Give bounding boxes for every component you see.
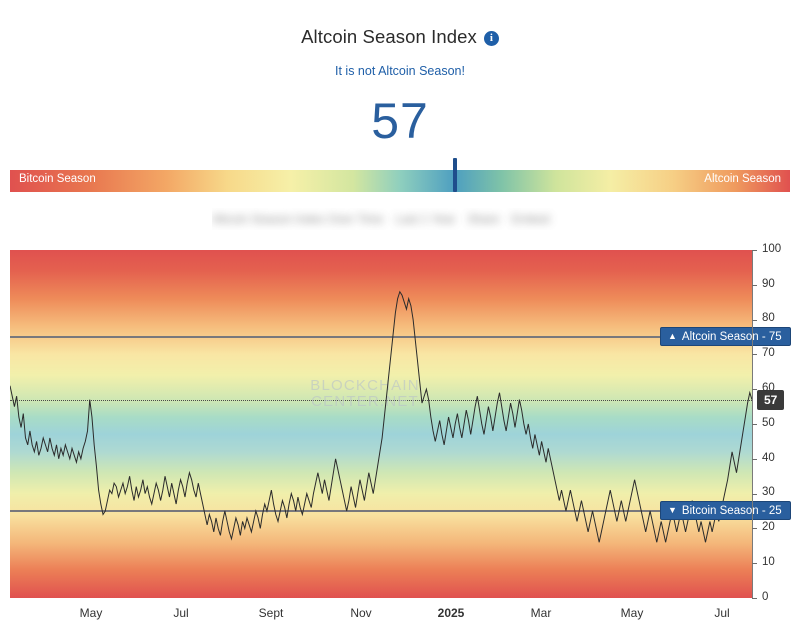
- y-tick-label: 100: [762, 244, 781, 256]
- y-axis: 0102030405060708090100: [752, 250, 800, 598]
- page-title: Altcoin Season Index: [301, 26, 477, 48]
- y-tick: 80: [752, 320, 800, 321]
- x-tick-label: Mar: [531, 606, 552, 620]
- page-title-row: Altcoin Season Index i: [0, 26, 800, 48]
- y-tick-mark: [752, 389, 757, 390]
- redacted-text-1: Altcoin Season Index Over Time: [212, 212, 383, 226]
- x-tick-label: Jul: [714, 606, 729, 620]
- scale-label-altcoin: Altcoin Season: [704, 173, 781, 185]
- y-tick-mark: [752, 563, 757, 564]
- scale-marker: [453, 158, 457, 192]
- y-tick-mark: [752, 494, 757, 495]
- y-tick: 20: [752, 528, 800, 529]
- y-tick: 40: [752, 459, 800, 460]
- season-scale: Bitcoin Season Altcoin Season: [10, 170, 790, 192]
- index-value: 57: [0, 96, 800, 146]
- season-scale-gradient: [10, 170, 790, 192]
- index-series-line: [10, 250, 752, 598]
- triangle-down-icon: ▼: [668, 506, 677, 515]
- x-axis: MayJulSeptNov2025MarMayJul: [0, 598, 800, 633]
- info-icon[interactable]: i: [484, 31, 499, 46]
- y-tick-label: 60: [762, 383, 775, 395]
- triangle-up-icon: ▲: [668, 332, 677, 341]
- y-tick-label: 40: [762, 453, 775, 465]
- y-tick-label: 30: [762, 487, 775, 499]
- y-tick: 50: [752, 424, 800, 425]
- y-tick-mark: [752, 285, 757, 286]
- x-tick-label: Jul: [173, 606, 188, 620]
- y-tick-label: 50: [762, 418, 775, 430]
- y-tick-mark: [752, 320, 757, 321]
- y-tick: 70: [752, 354, 800, 355]
- y-tick: 100: [752, 250, 800, 251]
- altcoin-season-index-page: Altcoin Season Index i It is not Altcoin…: [0, 0, 800, 633]
- x-tick-label: Nov: [350, 606, 371, 620]
- redacted-text-2: Last 1 Year: [395, 212, 455, 226]
- y-tick: 60: [752, 389, 800, 390]
- redacted-text-3: Share: [467, 212, 499, 226]
- x-tick-label: 2025: [438, 606, 465, 620]
- redacted-text-4: Embed: [512, 212, 550, 226]
- y-tick-mark: [752, 354, 757, 355]
- x-tick-label: Sept: [259, 606, 284, 620]
- y-tick: 90: [752, 285, 800, 286]
- chart-plot-area[interactable]: BLOCKCHAIN CENTER.NET: [10, 250, 752, 598]
- x-tick-label: May: [621, 606, 644, 620]
- y-tick: 10: [752, 563, 800, 564]
- y-tick-label: 90: [762, 279, 775, 291]
- redacted-controls-row: Altcoin Season Index Over Time Last 1 Ye…: [212, 208, 587, 230]
- y-tick-label: 80: [762, 313, 775, 325]
- y-tick-mark: [752, 528, 757, 529]
- y-tick-label: 10: [762, 557, 775, 569]
- scale-label-bitcoin: Bitcoin Season: [19, 173, 96, 185]
- y-tick-label: 70: [762, 348, 775, 360]
- y-tick-mark: [752, 459, 757, 460]
- x-tick-label: May: [80, 606, 103, 620]
- y-tick-label: 20: [762, 522, 775, 534]
- y-tick-mark: [752, 424, 757, 425]
- season-subtitle: It is not Altcoin Season!: [0, 64, 800, 78]
- y-tick-mark: [752, 250, 757, 251]
- y-tick: 30: [752, 494, 800, 495]
